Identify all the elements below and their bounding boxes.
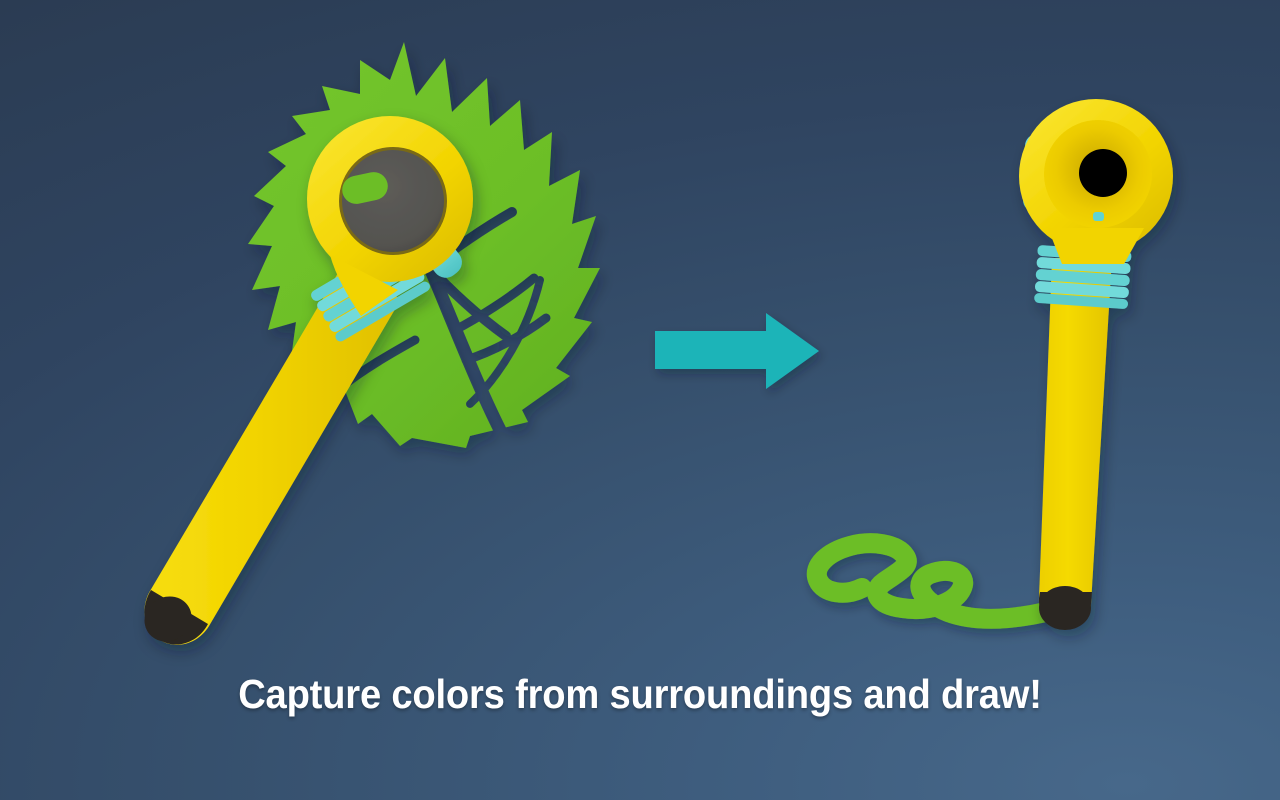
pen-right-shaft bbox=[1039, 258, 1112, 628]
drawn-squiggle-stroke bbox=[817, 543, 1046, 619]
pen-right-nozzle bbox=[1044, 120, 1152, 228]
pen-right-draw[interactable] bbox=[1019, 99, 1173, 630]
promo-screen: Capture colors from surroundings and dra… bbox=[0, 0, 1280, 800]
right-arrow-icon bbox=[655, 313, 819, 389]
pen-right-tip bbox=[1039, 586, 1092, 630]
caption-text: Capture colors from surroundings and dra… bbox=[45, 668, 1235, 720]
nozzle-indicator-dot bbox=[1093, 212, 1104, 221]
